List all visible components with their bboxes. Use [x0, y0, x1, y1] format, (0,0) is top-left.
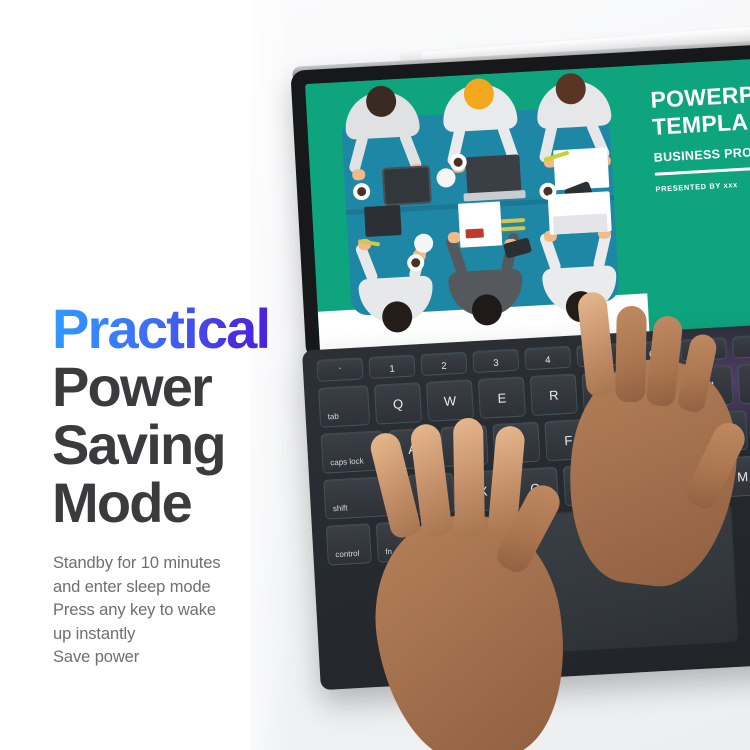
- key-control[interactable]: control: [326, 523, 372, 565]
- typing-hands: [400, 300, 750, 750]
- headline-line-2: Power: [52, 358, 302, 416]
- left-ring-finger: [453, 418, 485, 537]
- slide-divider-rule: [655, 164, 750, 175]
- body-line-4: up instantly: [53, 623, 293, 647]
- headline-line-4: Mode: [52, 474, 302, 532]
- body-line-3: Press any key to wake: [53, 599, 293, 623]
- illustration-laptop-1: [465, 154, 521, 195]
- screenshot-root: POWERP TEMPLA BUSINESS PROF PRESENTED BY…: [0, 0, 750, 750]
- illustration-notebook-2: [364, 205, 402, 237]
- body-line-1: Standby for 10 minutes: [53, 552, 293, 576]
- right-middle-finger: [615, 306, 647, 403]
- illustration-laptop-2: [553, 213, 608, 234]
- headline-line-1: Practical: [52, 300, 302, 358]
- illustration-document: [458, 201, 502, 247]
- key-tab[interactable]: tab: [318, 385, 370, 428]
- text-panel: Practical Power Saving Mode Standby for …: [0, 0, 300, 750]
- slide-subtitle: BUSINESS PROF: [653, 142, 750, 165]
- right-index-finger: [577, 291, 617, 397]
- body-line-5: Save power: [53, 646, 293, 670]
- slide-title-block: POWERP TEMPLA BUSINESS PROF PRESENTED BY…: [637, 56, 750, 335]
- body-copy-block: Standby for 10 minutes and enter sleep m…: [53, 552, 293, 670]
- headline-block: Practical Power Saving Mode: [52, 300, 302, 532]
- illustration-tablet-object: [382, 165, 432, 206]
- headline-line-3: Saving: [52, 416, 302, 474]
- slide-presenter: PRESENTED BY xxx: [655, 176, 750, 194]
- key-backtick[interactable]: `: [316, 357, 363, 382]
- body-line-2: and enter sleep mode: [53, 576, 293, 600]
